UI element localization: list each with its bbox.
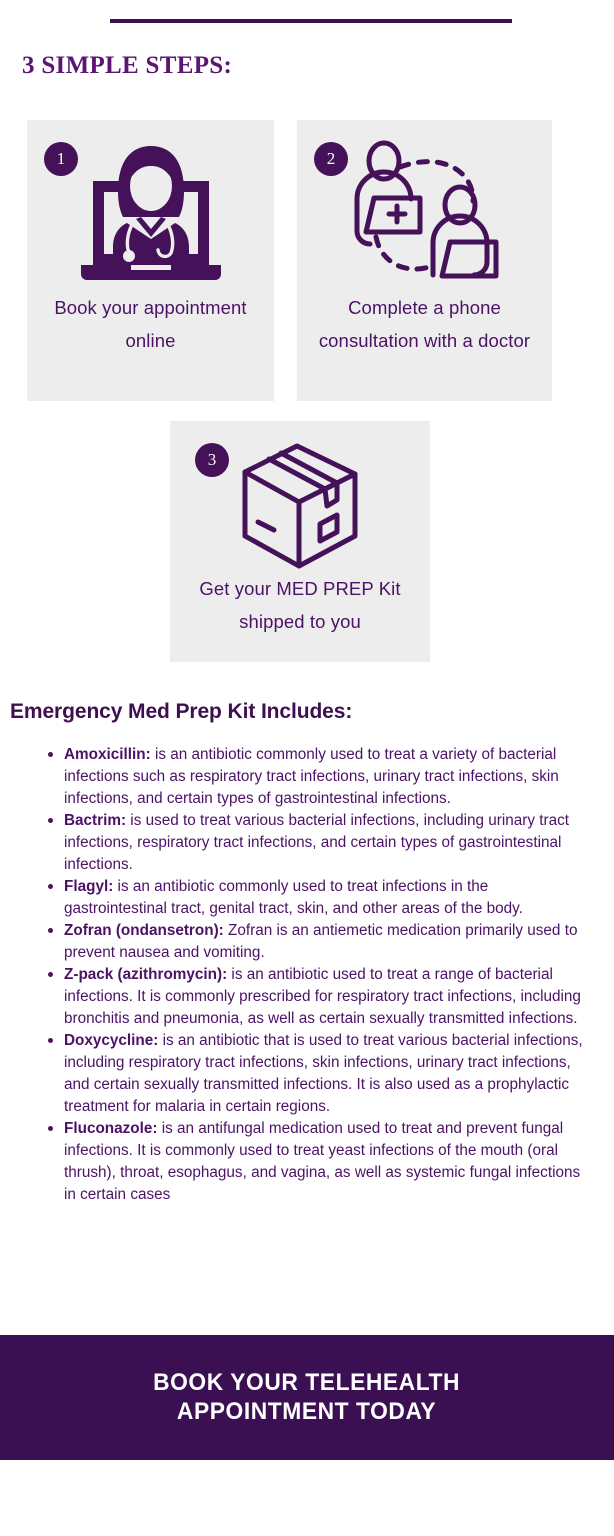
step-caption-2: Complete a phone consultation with a doc… — [305, 292, 544, 358]
step-card-3: 3 Get your MED PREP Ki — [170, 421, 430, 662]
step-caption-1: Book your appointment online — [35, 292, 266, 358]
list-item: Fluconazole: is an antifungal medication… — [42, 1118, 594, 1206]
step-card-1: 1 — [27, 120, 274, 401]
medication-name: Z-pack (azithromycin): — [64, 966, 227, 983]
medication-name: Fluconazole: — [64, 1120, 157, 1137]
medication-name: Bactrim: — [64, 812, 126, 829]
medication-description: is an antibiotic commonly used to treat … — [64, 878, 523, 917]
step-number-badge-1: 1 — [44, 142, 78, 176]
step-card-2: 2 — [297, 120, 552, 401]
infographic-page: 3 SIMPLE STEPS: 1 — [0, 0, 614, 1536]
cta-text: BOOK YOUR TELEHEALTH APPOINTMENT TODAY — [154, 1369, 461, 1426]
cta-line-2: APPOINTMENT TODAY — [154, 1398, 461, 1427]
cta-banner[interactable]: BOOK YOUR TELEHEALTH APPOINTMENT TODAY — [0, 1335, 614, 1460]
cta-line-1: BOOK YOUR TELEHEALTH — [154, 1369, 461, 1398]
medication-name: Amoxicillin: — [64, 746, 151, 763]
medication-description: is used to treat various bacterial infec… — [64, 812, 569, 873]
list-item: Amoxicillin: is an antibiotic commonly u… — [42, 744, 594, 810]
step-caption-3: Get your MED PREP Kit shipped to you — [178, 573, 422, 639]
list-item: Flagyl: is an antibiotic commonly used t… — [42, 876, 594, 920]
medication-name: Zofran (ondansetron): — [64, 922, 224, 939]
medication-name: Doxycycline: — [64, 1032, 158, 1049]
step-number-badge-2: 2 — [314, 142, 348, 176]
list-item: Zofran (ondansetron): Zofran is an antie… — [42, 920, 594, 964]
medication-name: Flagyl: — [64, 878, 113, 895]
list-item: Bactrim: is used to treat various bacter… — [42, 810, 594, 876]
page-title: 3 SIMPLE STEPS: — [22, 52, 232, 80]
list-item: Doxycycline: is an antibiotic that is us… — [42, 1030, 594, 1118]
list-item: Z-pack (azithromycin): is an antibiotic … — [42, 964, 594, 1030]
step-number-badge-3: 3 — [195, 443, 229, 477]
header-divider — [110, 19, 512, 23]
includes-heading: Emergency Med Prep Kit Includes: — [10, 700, 352, 724]
medication-list: Amoxicillin: is an antibiotic commonly u… — [42, 744, 594, 1206]
